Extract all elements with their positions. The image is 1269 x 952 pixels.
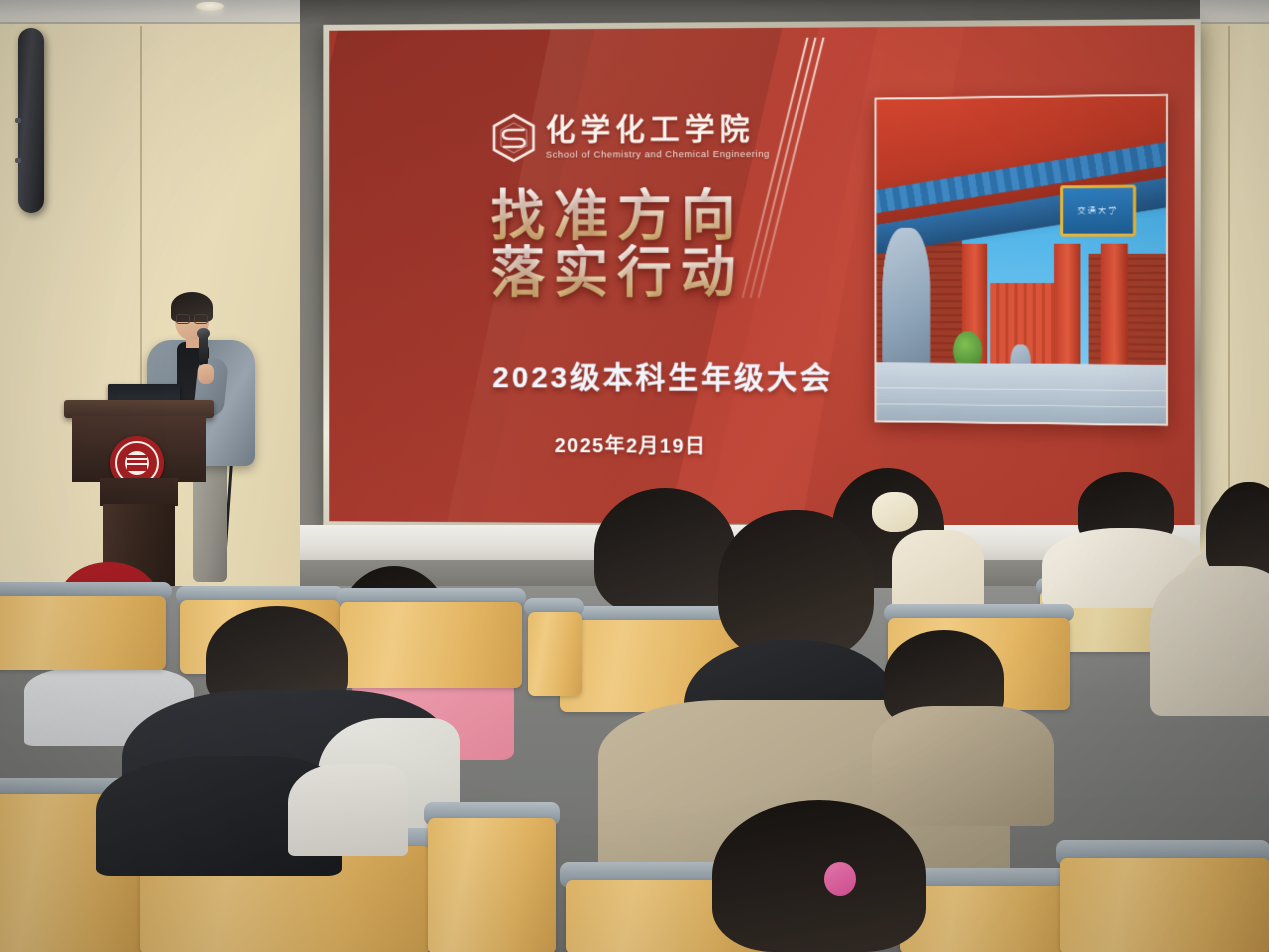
slide-title-line1: 找准方向 xyxy=(491,187,745,244)
photo-ground xyxy=(876,363,1165,425)
podium-front-panel xyxy=(72,416,206,482)
student-hair xyxy=(594,488,736,614)
presentation-screen[interactable]: 化学化工学院 School of Chemistry and Chemical … xyxy=(329,25,1194,527)
seat-panel xyxy=(528,612,582,696)
hair-tie xyxy=(824,862,856,896)
seat-panel xyxy=(340,602,522,688)
microphone-capsule xyxy=(197,328,210,339)
presenter-hand xyxy=(198,364,214,384)
lecture-hall-photo: 化学化工学院 School of Chemistry and Chemical … xyxy=(0,0,1269,952)
slide-org-name-en: School of Chemistry and Chemical Enginee… xyxy=(546,150,770,160)
slide-org-name-cn: 化学化工学院 xyxy=(546,115,770,146)
seat-panel xyxy=(428,818,556,952)
student-hair xyxy=(712,800,926,952)
wall-speaker-icon xyxy=(18,28,44,213)
ceiling-light xyxy=(196,2,224,11)
slide-date: 2025年2月19日 xyxy=(555,429,707,459)
student-scarf xyxy=(288,764,408,856)
seat-panel xyxy=(900,886,1082,952)
speaker-bracket xyxy=(15,158,21,163)
seal-emblem-mark xyxy=(127,455,147,471)
hair-scrunchie xyxy=(872,492,918,532)
student-torso xyxy=(892,530,984,612)
seat-panel xyxy=(1060,858,1269,952)
speaker-bracket xyxy=(15,118,21,123)
slide-campus-gate-photo: 交通大学 xyxy=(874,94,1167,427)
slide-subtitle: 2023级本科生年级大会 xyxy=(492,352,833,397)
podium xyxy=(64,400,214,585)
slide-title-line2: 落实行动 xyxy=(491,244,745,301)
student-torso xyxy=(1150,566,1269,716)
presentation-screen-frame: 化学化工学院 School of Chemistry and Chemical … xyxy=(323,19,1200,533)
student-hair xyxy=(1206,490,1269,576)
photo-stone-lion xyxy=(882,228,930,376)
student-torso xyxy=(872,706,1054,826)
hexagon-s-logo-icon xyxy=(491,113,536,163)
photo-gate-plaque: 交通大学 xyxy=(1059,185,1135,237)
slide-title: 找准方向 落实行动 xyxy=(491,187,745,301)
photo-plaque-text: 交通大学 xyxy=(1062,188,1132,234)
podium-neck xyxy=(100,478,178,506)
glasses-icon xyxy=(176,314,208,322)
seal-core xyxy=(125,451,149,475)
seat-panel xyxy=(0,596,166,670)
student-hair xyxy=(718,510,874,660)
slide-logo-lockup: 化学化工学院 School of Chemistry and Chemical … xyxy=(491,112,770,163)
wall-panel-seam xyxy=(1228,26,1230,566)
